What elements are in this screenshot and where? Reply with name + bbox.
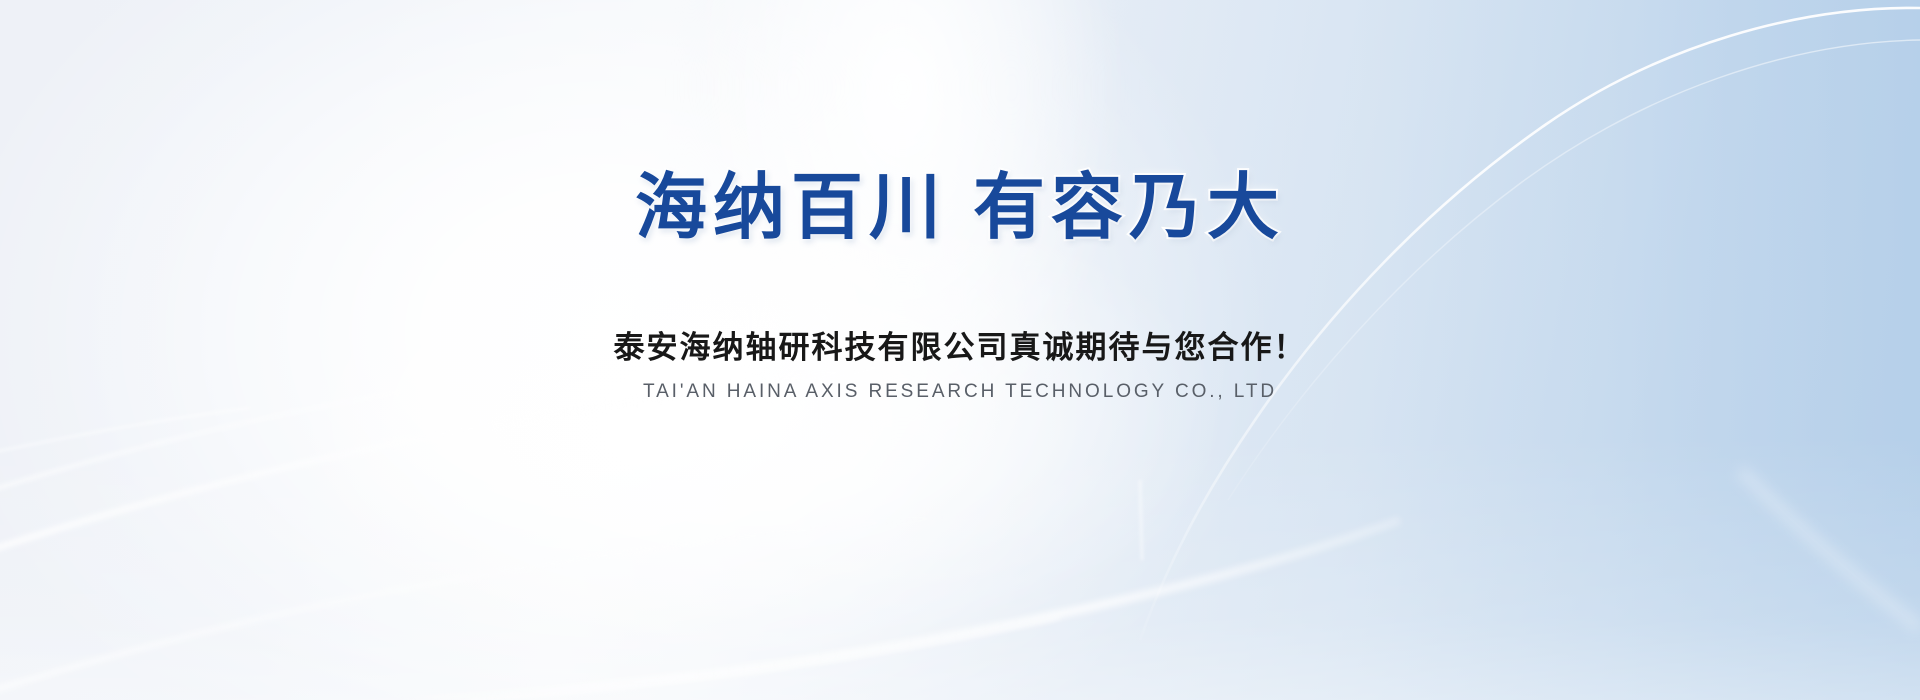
subtitle-english: TAI'AN HAINA AXIS RESEARCH TECHNOLOGY CO… — [643, 381, 1277, 403]
page-title: 海纳百川 有容乃大 — [635, 166, 1285, 251]
subtitle-chinese: 泰安海纳轴研科技有限公司真诚期待与您合作！ — [614, 322, 1307, 367]
banner-content: 海纳百川 有容乃大 泰安海纳轴研科技有限公司真诚期待与您合作！ TAI'AN H… — [0, 0, 1920, 700]
hero-banner: 海纳百川 有容乃大 泰安海纳轴研科技有限公司真诚期待与您合作！ TAI'AN H… — [0, 0, 1920, 700]
